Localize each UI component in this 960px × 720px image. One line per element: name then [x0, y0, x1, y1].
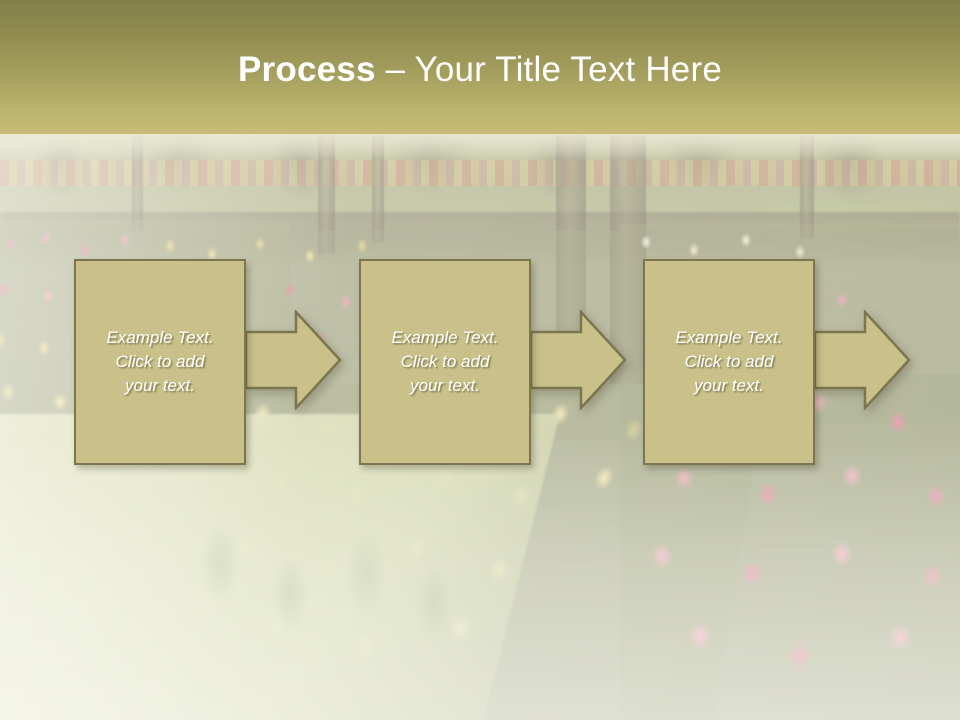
process-step-text-3: Example Text. Click to add your text. — [667, 326, 790, 398]
right-arrow-icon-3 — [813, 310, 911, 410]
process-diagram: Example Text. Click to add your text. Ex… — [0, 0, 960, 720]
process-step-text-2: Example Text. Click to add your text. — [383, 326, 506, 398]
slide-canvas: Process – Your Title Text Here Example T… — [0, 0, 960, 720]
process-step-text-1: Example Text. Click to add your text. — [98, 326, 221, 398]
process-step-box-1[interactable]: Example Text. Click to add your text. — [74, 259, 246, 465]
process-step-box-3[interactable]: Example Text. Click to add your text. — [643, 259, 815, 465]
right-arrow-icon-2 — [529, 310, 627, 410]
process-step-box-2[interactable]: Example Text. Click to add your text. — [359, 259, 531, 465]
right-arrow-icon-1 — [244, 310, 342, 410]
